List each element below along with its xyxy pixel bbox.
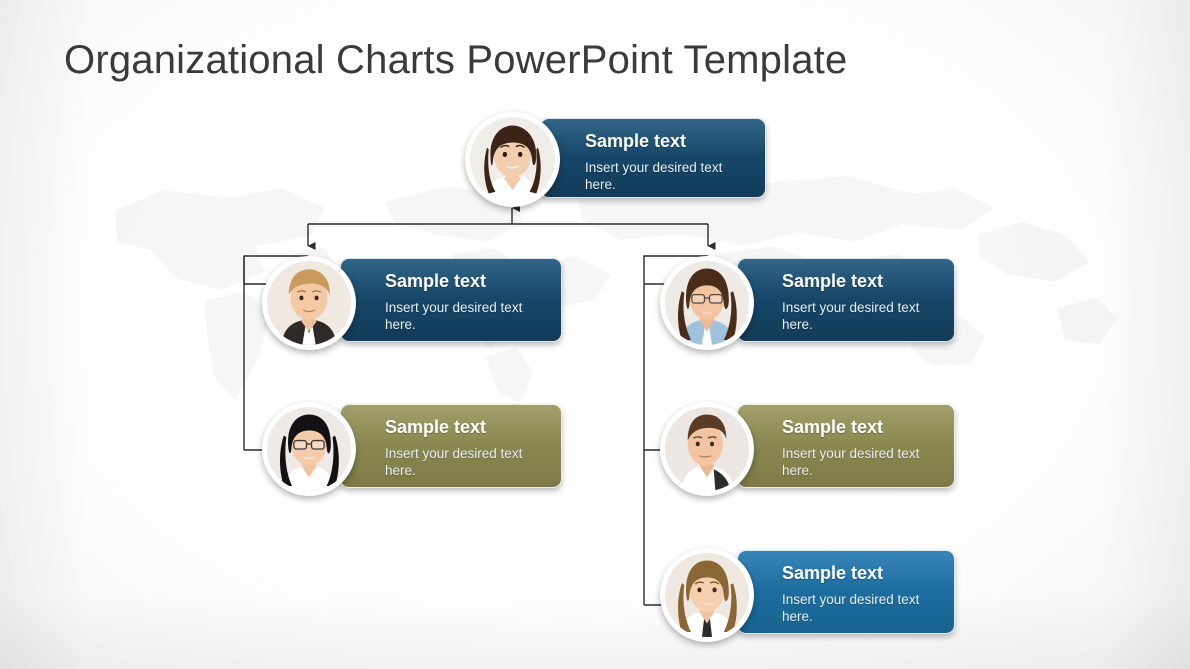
slide-canvas: Organizational Charts PowerPoint Templat… — [0, 0, 1190, 669]
avatar-left-2[interactable] — [262, 402, 356, 496]
node-title: Sample text — [782, 563, 883, 584]
edge-shading-left — [0, 0, 90, 669]
node-body: Insert your desired text here. — [782, 445, 942, 479]
avatar-photo — [267, 261, 351, 345]
avatar-photo — [665, 261, 749, 345]
node-card-root[interactable]: Sample text Insert your desired text her… — [540, 118, 766, 198]
node-card-left-2[interactable]: Sample text Insert your desired text her… — [340, 404, 562, 488]
avatar-photo — [267, 407, 351, 491]
page-title: Organizational Charts PowerPoint Templat… — [64, 38, 847, 83]
node-card-left-1[interactable]: Sample text Insert your desired text her… — [340, 258, 562, 342]
avatar-right-3[interactable] — [660, 548, 754, 642]
avatar-right-1[interactable] — [660, 256, 754, 350]
avatar-root[interactable] — [465, 112, 560, 207]
node-body: Insert your desired text here. — [385, 299, 545, 333]
avatar-left-1[interactable] — [262, 256, 356, 350]
node-body: Insert your desired text here. — [585, 159, 745, 193]
node-title: Sample text — [385, 271, 486, 292]
edge-shading-right — [1100, 0, 1190, 669]
node-title: Sample text — [782, 271, 883, 292]
node-title: Sample text — [585, 131, 686, 152]
node-body: Insert your desired text here. — [782, 591, 942, 625]
node-body: Insert your desired text here. — [385, 445, 545, 479]
node-card-right-2[interactable]: Sample text Insert your desired text her… — [737, 404, 955, 488]
node-card-right-1[interactable]: Sample text Insert your desired text her… — [737, 258, 955, 342]
node-body: Insert your desired text here. — [782, 299, 942, 333]
org-chart-connectors — [0, 0, 1190, 669]
edge-shading-bottom — [0, 589, 1190, 669]
avatar-photo — [665, 407, 749, 491]
avatar-photo — [665, 553, 749, 637]
node-title: Sample text — [782, 417, 883, 438]
node-title: Sample text — [385, 417, 486, 438]
avatar-right-2[interactable] — [660, 402, 754, 496]
node-card-right-3[interactable]: Sample text Insert your desired text her… — [737, 550, 955, 634]
avatar-photo — [470, 117, 555, 202]
